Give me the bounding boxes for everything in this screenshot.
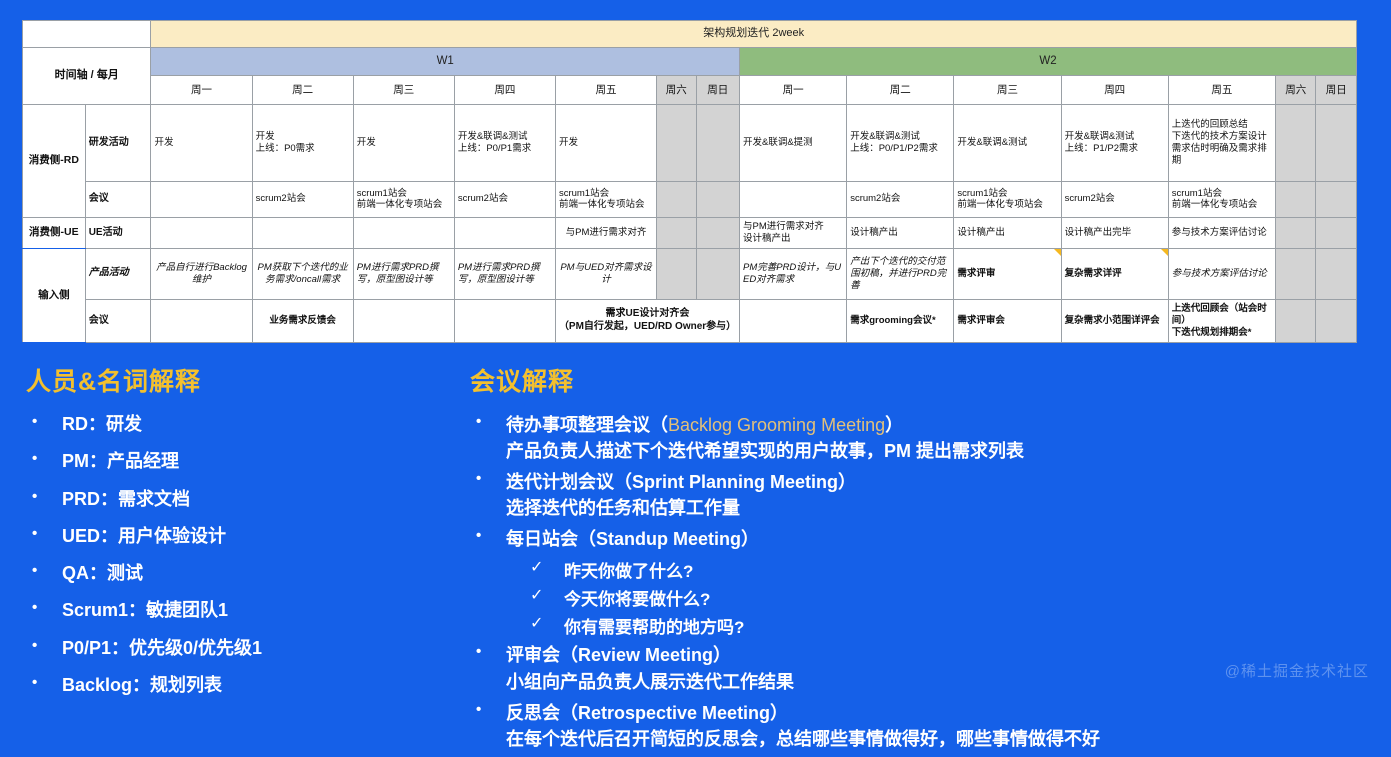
cell-pm-meeting-7 xyxy=(739,299,846,342)
glossary-item-label: UED：用户体验设计 xyxy=(62,524,226,548)
cell-pm-meeting-8: 需求grooming会议* xyxy=(847,299,954,342)
glossary-item: •UED：用户体验设计 xyxy=(24,524,444,548)
cell-pm-activity-13 xyxy=(1316,248,1357,299)
cell-rd-activity-8: 开发&联调&测试上线：P0/P1/P2需求 xyxy=(847,105,954,182)
cell-pm-activity-9: 需求评审 xyxy=(954,248,1061,299)
cell-rd-meeting-12 xyxy=(1276,181,1316,217)
check-icon: ✓ xyxy=(530,557,564,577)
day-header-w2-mon: 周一 xyxy=(739,76,846,105)
glossary-item-label: Scrum1：敏捷团队1 xyxy=(62,598,228,622)
group-label-ue: 消费侧-UE xyxy=(23,217,86,248)
cell-pm-meeting-11: 上迭代回顾会（站会时间）下迭代规划排期会* xyxy=(1168,299,1275,342)
day-header-w2-thu: 周四 xyxy=(1061,76,1168,105)
day-header-w2-wed: 周三 xyxy=(954,76,1061,105)
cell-pm-activity-8: 产出下个迭代的交付范围初稿，并进行PRD完善 xyxy=(847,248,954,299)
glossary-item: •RD：研发 xyxy=(24,412,444,436)
meeting-item: •每日站会（Standup Meeting）✓昨天你做了什么?✓今天你将要做什么… xyxy=(468,526,1368,638)
cell-pm-activity-12 xyxy=(1276,248,1316,299)
day-header-w1-sat: 周六 xyxy=(657,76,696,105)
day-header-w2-tue: 周二 xyxy=(847,76,954,105)
table-row: 消费侧-UE UE活动 与PM进行需求对齐 与PM进行需求对齐设计稿产出 设计稿… xyxy=(23,217,1357,248)
meetings-column: 会议解释 •待办事项整理会议（Backlog Grooming Meeting）… xyxy=(468,362,1368,757)
bullet-icon: • xyxy=(24,561,62,581)
meeting-item-description: 产品负责人描述下个迭代希望实现的用户故事，PM 提出需求列表 xyxy=(506,438,1024,464)
week-header-w1: W1 xyxy=(151,47,740,76)
meeting-item-title: 反思会（Retrospective Meeting）在每个迭代后召开简短的反思会… xyxy=(506,700,1100,752)
cell-pm-meeting-0 xyxy=(151,299,252,342)
day-header-row: 周一 周二 周三 周四 周五 周六 周日 周一 周二 周三 周四 周五 周六 周… xyxy=(23,76,1357,105)
table-row: 消费侧-RD 研发活动 开发 开发上线：P0需求 开发 开发&联调&测试上线：P… xyxy=(23,105,1357,182)
cell-pm-meeting-4: 需求UE设计对齐会（PM自行发起，UED/RD Owner参与） xyxy=(555,299,739,342)
week-header-w2: W2 xyxy=(739,47,1356,76)
cell-pm-activity-2: PM进行需求PRD撰写，原型图设计等 xyxy=(353,248,454,299)
meeting-item: •待办事项整理会议（Backlog Grooming Meeting）产品负责人… xyxy=(468,412,1368,464)
cell-pm-activity-5 xyxy=(657,248,696,299)
cell-rd-meeting-5 xyxy=(657,181,696,217)
meeting-item: •反思会（Retrospective Meeting）在每个迭代后召开简短的反思… xyxy=(468,700,1368,752)
cell-rd-meeting-10: scrum2站会 xyxy=(1061,181,1168,217)
meetings-heading: 会议解释 xyxy=(470,362,1368,398)
cell-pm-meeting-12 xyxy=(1276,299,1316,342)
glossary-item-label: QA：测试 xyxy=(62,561,143,585)
cell-pm-activity-10: 复杂需求详评 xyxy=(1061,248,1168,299)
meeting-check-item: ✓昨天你做了什么? xyxy=(530,557,1368,582)
bullet-icon: • xyxy=(24,524,62,544)
subrow-label-pm-meeting: 会议 xyxy=(85,299,151,342)
cell-rd-meeting-4: scrum1站会前端一体化专项站会 xyxy=(555,181,656,217)
bullet-icon: • xyxy=(24,412,62,432)
table-row: 输入侧 产品活动 产品自行进行Backlog维护 PM获取下个迭代的业务需求/o… xyxy=(23,248,1357,299)
cell-pm-activity-4: PM与UED对齐需求设计 xyxy=(555,248,656,299)
cell-rd-activity-7: 开发&联调&提测 xyxy=(739,105,846,182)
group-label-input: 输入侧 xyxy=(23,248,86,342)
cell-rd-activity-4: 开发 xyxy=(555,105,656,182)
cell-rd-meeting-1: scrum2站会 xyxy=(252,181,353,217)
meeting-check-item: ✓你有需要帮助的地方吗? xyxy=(530,613,1368,638)
bullet-icon: • xyxy=(24,636,62,656)
glossary-item: •P0/P1：优先级0/优先级1 xyxy=(24,636,444,660)
glossary-item-label: RD：研发 xyxy=(62,412,142,436)
check-icon: ✓ xyxy=(530,585,564,605)
cell-ue-activity-1 xyxy=(252,217,353,248)
title-spacer xyxy=(23,21,151,48)
cell-ue-activity-0 xyxy=(151,217,252,248)
cell-pm-meeting-1: 业务需求反馈会 xyxy=(252,299,353,342)
bullet-icon: • xyxy=(24,673,62,693)
meeting-item-description: 选择迭代的任务和估算工作量 xyxy=(506,495,856,521)
bullet-icon: • xyxy=(468,469,506,489)
cell-pm-meeting-2 xyxy=(353,299,454,342)
meeting-item-english: Backlog Grooming Meeting xyxy=(668,415,885,435)
day-header-w1-mon: 周一 xyxy=(151,76,252,105)
meeting-check-label: 昨天你做了什么? xyxy=(564,557,693,582)
schedule-title: 架构规划迭代 2week xyxy=(151,21,1357,48)
glossary-item-label: Backlog：规划列表 xyxy=(62,673,222,697)
cell-ue-activity-13 xyxy=(1316,217,1357,248)
meetings-list: •待办事项整理会议（Backlog Grooming Meeting）产品负责人… xyxy=(468,412,1368,752)
cell-rd-meeting-13 xyxy=(1316,181,1357,217)
meeting-item-description: 在每个迭代后召开简短的反思会，总结哪些事情做得好，哪些事情做得不好 xyxy=(506,726,1100,752)
bullet-icon: • xyxy=(24,449,62,469)
cell-pm-meeting-13 xyxy=(1316,299,1357,342)
day-header-w1-thu: 周四 xyxy=(454,76,555,105)
day-header-w2-sun: 周日 xyxy=(1316,76,1357,105)
cell-pm-meeting-10: 复杂需求小范围详评会 xyxy=(1061,299,1168,342)
cell-rd-activity-5 xyxy=(657,105,696,182)
cell-ue-activity-10: 设计稿产出完毕 xyxy=(1061,217,1168,248)
check-icon: ✓ xyxy=(530,613,564,633)
table-row: 会议 业务需求反馈会 需求UE设计对齐会（PM自行发起，UED/RD Owner… xyxy=(23,299,1357,342)
cell-ue-activity-4: 与PM进行需求对齐 xyxy=(555,217,656,248)
cell-pm-activity-6 xyxy=(696,248,739,299)
subrow-label-ue-activity: UE活动 xyxy=(85,217,151,248)
bullet-icon: • xyxy=(468,412,506,432)
cell-pm-activity-11: 参与技术方案评估讨论 xyxy=(1168,248,1275,299)
glossary-list: •RD：研发•PM：产品经理•PRD：需求文档•UED：用户体验设计•QA：测试… xyxy=(24,412,444,697)
table-row: 会议 scrum2站会 scrum1站会前端一体化专项站会 scrum2站会 s… xyxy=(23,181,1357,217)
subrow-label-pm-activity: 产品活动 xyxy=(85,248,151,299)
day-header-w1-tue: 周二 xyxy=(252,76,353,105)
glossary-item: •QA：测试 xyxy=(24,561,444,585)
cell-rd-activity-2: 开发 xyxy=(353,105,454,182)
week-band-row: 时间轴 / 每月 W1 W2 xyxy=(23,47,1357,76)
cell-ue-activity-2 xyxy=(353,217,454,248)
cell-rd-activity-12 xyxy=(1276,105,1316,182)
cell-rd-meeting-6 xyxy=(696,181,739,217)
glossary-item: •PRD：需求文档 xyxy=(24,487,444,511)
cell-ue-activity-7: 与PM进行需求对齐设计稿产出 xyxy=(739,217,846,248)
cell-ue-activity-8: 设计稿产出 xyxy=(847,217,954,248)
day-header-w2-fri: 周五 xyxy=(1168,76,1275,105)
glossary-heading: 人员&名词解释 xyxy=(26,362,444,398)
bullet-icon: • xyxy=(468,642,506,662)
watermark: @稀土掘金技术社区 xyxy=(1225,660,1369,681)
day-header-w1-wed: 周三 xyxy=(353,76,454,105)
cell-pm-activity-3: PM进行需求PRD撰写，原型图设计等 xyxy=(454,248,555,299)
day-header-w1-sun: 周日 xyxy=(696,76,739,105)
glossary-item-label: PM：产品经理 xyxy=(62,449,179,473)
bullet-icon: • xyxy=(24,598,62,618)
meeting-item-title: 评审会（Review Meeting）小组向产品负责人展示迭代工作结果 xyxy=(506,642,794,694)
glossary-item: •Backlog：规划列表 xyxy=(24,673,444,697)
table-title-row: 架构规划迭代 2week xyxy=(23,21,1357,48)
bullet-icon: • xyxy=(468,700,506,720)
axis-label: 时间轴 / 每月 xyxy=(23,47,151,105)
cell-rd-activity-0: 开发 xyxy=(151,105,252,182)
iteration-schedule-table: 架构规划迭代 2week 时间轴 / 每月 W1 W2 周一 周二 周三 周四 … xyxy=(20,18,1359,345)
subrow-label-rd-activity: 研发活动 xyxy=(85,105,151,182)
meeting-check-label: 你有需要帮助的地方吗? xyxy=(564,613,744,638)
subrow-label-rd-meeting: 会议 xyxy=(85,181,151,217)
glossary-item: •Scrum1：敏捷团队1 xyxy=(24,598,444,622)
meeting-item-title: 待办事项整理会议（Backlog Grooming Meeting）产品负责人描… xyxy=(506,412,1024,464)
cell-pm-activity-0: 产品自行进行Backlog维护 xyxy=(151,248,252,299)
cell-ue-activity-3 xyxy=(454,217,555,248)
legend-section: 人员&名词解释 •RD：研发•PM：产品经理•PRD：需求文档•UED：用户体验… xyxy=(0,352,1391,693)
cell-pm-activity-1: PM获取下个迭代的业务需求/oncall需求 xyxy=(252,248,353,299)
meeting-item-title: 每日站会（Standup Meeting） xyxy=(506,526,759,552)
cell-rd-meeting-7 xyxy=(739,181,846,217)
cell-rd-meeting-2: scrum1站会前端一体化专项站会 xyxy=(353,181,454,217)
cell-rd-activity-3: 开发&联调&测试上线：P0/P1需求 xyxy=(454,105,555,182)
cell-rd-meeting-8: scrum2站会 xyxy=(847,181,954,217)
glossary-item-label: PRD：需求文档 xyxy=(62,487,190,511)
cell-ue-activity-6 xyxy=(696,217,739,248)
meeting-item-title: 迭代计划会议（Sprint Planning Meeting）选择迭代的任务和估… xyxy=(506,469,856,521)
cell-pm-meeting-3 xyxy=(454,299,555,342)
cell-rd-meeting-3: scrum2站会 xyxy=(454,181,555,217)
cell-rd-activity-10: 开发&联调&测试上线：P1/P2需求 xyxy=(1061,105,1168,182)
glossary-item-label: P0/P1：优先级0/优先级1 xyxy=(62,636,262,660)
cell-rd-activity-6 xyxy=(696,105,739,182)
cell-rd-meeting-0 xyxy=(151,181,252,217)
cell-rd-meeting-11: scrum1站会前端一体化专项站会 xyxy=(1168,181,1275,217)
meeting-item-description: 小组向产品负责人展示迭代工作结果 xyxy=(506,669,794,695)
meeting-item: •迭代计划会议（Sprint Planning Meeting）选择迭代的任务和… xyxy=(468,469,1368,521)
glossary-item: •PM：产品经理 xyxy=(24,449,444,473)
cell-ue-activity-12 xyxy=(1276,217,1316,248)
day-header-w2-sat: 周六 xyxy=(1276,76,1316,105)
cell-rd-activity-1: 开发上线：P0需求 xyxy=(252,105,353,182)
cell-pm-activity-7: PM完善PRD设计，与UED对齐需求 xyxy=(739,248,846,299)
cell-ue-activity-11: 参与技术方案评估讨论 xyxy=(1168,217,1275,248)
cell-pm-meeting-9: 需求评审会 xyxy=(954,299,1061,342)
cell-ue-activity-9: 设计稿产出 xyxy=(954,217,1061,248)
glossary-column: 人员&名词解释 •RD：研发•PM：产品经理•PRD：需求文档•UED：用户体验… xyxy=(24,362,444,710)
meeting-check-item: ✓今天你将要做什么? xyxy=(530,585,1368,610)
cell-ue-activity-5 xyxy=(657,217,696,248)
schedule-grid: 架构规划迭代 2week 时间轴 / 每月 W1 W2 周一 周二 周三 周四 … xyxy=(22,20,1357,343)
cell-rd-activity-11: 上迭代的回顾总结下迭代的技术方案设计需求估时明确及需求排期 xyxy=(1168,105,1275,182)
bullet-icon: • xyxy=(24,487,62,507)
group-label-rd: 消费侧-RD xyxy=(23,105,86,218)
cell-rd-activity-13 xyxy=(1316,105,1357,182)
meeting-check-label: 今天你将要做什么? xyxy=(564,585,710,610)
day-header-w1-fri: 周五 xyxy=(555,76,656,105)
cell-rd-meeting-9: scrum1站会前端一体化专项站会 xyxy=(954,181,1061,217)
meeting-check-list: ✓昨天你做了什么?✓今天你将要做什么?✓你有需要帮助的地方吗? xyxy=(468,557,1368,638)
cell-rd-activity-9: 开发&联调&测试 xyxy=(954,105,1061,182)
bullet-icon: • xyxy=(468,526,506,546)
